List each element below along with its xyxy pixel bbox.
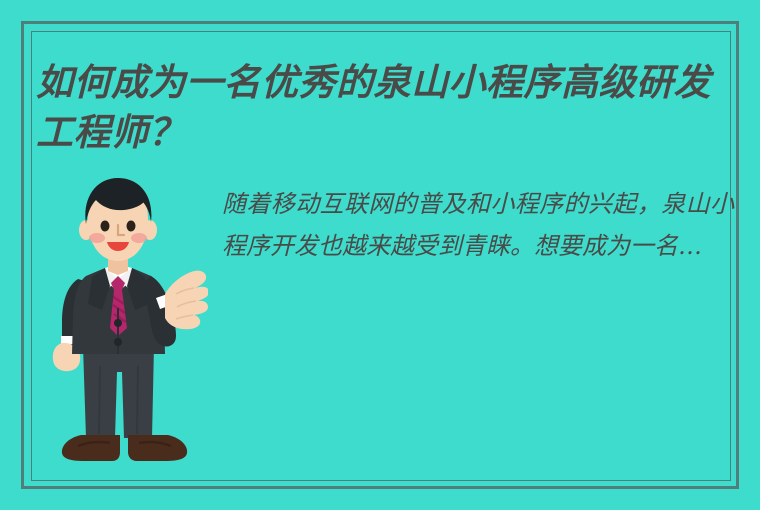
blush-left xyxy=(89,233,105,243)
eye-right xyxy=(127,221,136,232)
hand-right xyxy=(165,271,208,330)
article-excerpt: 随着移动互联网的普及和小程序的兴起，泉山小程序开发也越来越受到青睐。想要成为一名… xyxy=(222,183,734,267)
blush-right xyxy=(131,233,147,243)
trouser-crease-right xyxy=(137,366,138,434)
eye-left xyxy=(101,221,110,232)
shoe-left xyxy=(62,435,120,461)
businessman-illustration xyxy=(48,176,208,472)
jacket-button-top xyxy=(114,319,122,327)
shoe-right xyxy=(128,435,187,461)
trousers xyxy=(83,346,154,438)
jacket-button-bottom xyxy=(114,338,122,346)
article-card: 如何成为一名优秀的泉山小程序高级研发工程师？ 随着移动互联网的普及和小程序的兴起… xyxy=(0,0,760,510)
trouser-crease-left xyxy=(99,366,100,434)
page-title: 如何成为一名优秀的泉山小程序高级研发工程师？ xyxy=(36,57,736,157)
